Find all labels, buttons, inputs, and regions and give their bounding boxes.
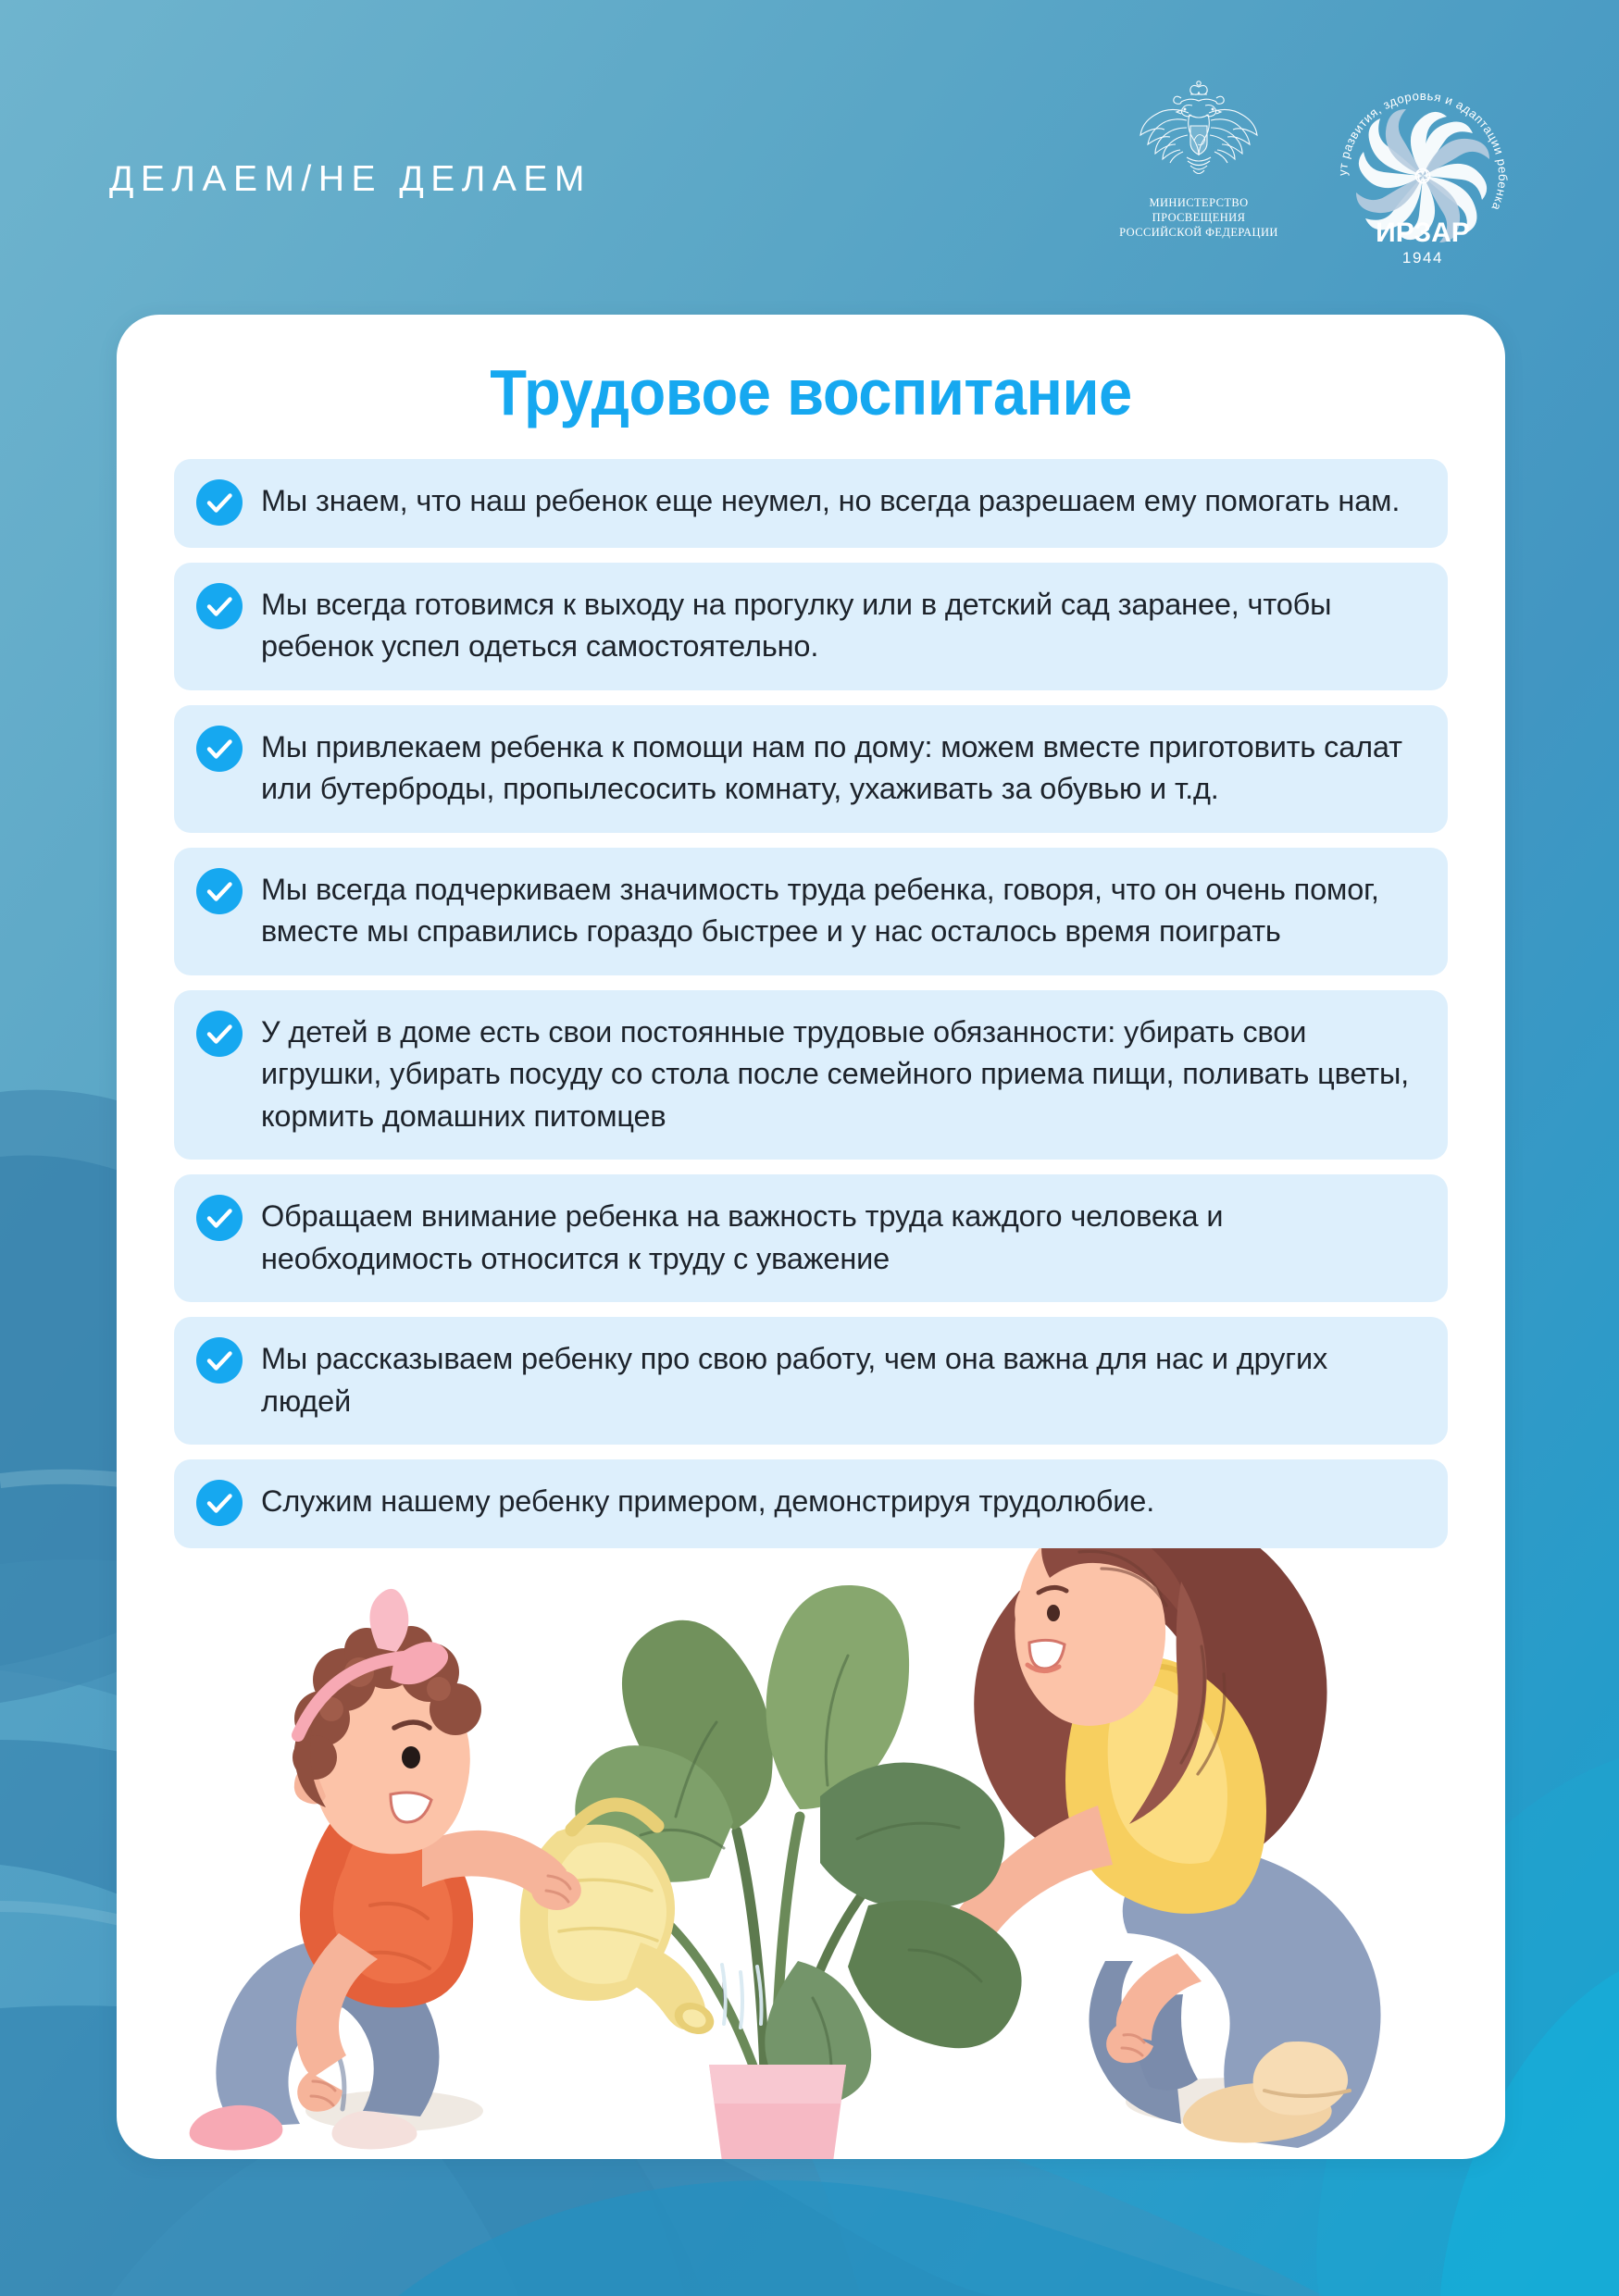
watering-can [520, 1805, 719, 2040]
list-item-text: Мы всегда готовимся к выходу на прогулку… [261, 581, 1420, 668]
poster-header: ДЕЛАЕМ/НЕ ДЕЛАЕМ [0, 0, 1619, 315]
ministry-logo: МИНИСТЕРСТВО ПРОСВЕЩЕНИЯ РОССИЙСКОЙ ФЕДЕ… [1106, 80, 1291, 240]
list-item: Мы всегда готовимся к выходу на прогулку… [174, 563, 1448, 690]
logo-group: МИНИСТЕРСТВО ПРОСВЕЩЕНИЯ РОССИЙСКОЙ ФЕДЕ… [1106, 80, 1519, 272]
check-circle-icon [196, 479, 243, 526]
irzar-logo: Институт развития, здоровья и адаптации … [1326, 80, 1519, 272]
content-card: Трудовое воспитание Мы знаем, что наш ре… [117, 315, 1505, 2159]
mother-and-child-watering-plant-illustration [117, 1443, 1505, 2159]
list-item-text: Мы рассказываем ребенку про свою работу,… [261, 1335, 1420, 1422]
ministry-caption-line1: МИНИСТЕРСТВО ПРОСВЕЩЕНИЯ [1106, 195, 1291, 225]
list-item-text: Обращаем внимание ребенка на важность тр… [261, 1193, 1420, 1280]
check-circle-icon [196, 1337, 243, 1384]
checklist: Мы знаем, что наш ребенок еще неумел, но… [174, 459, 1448, 1549]
check-circle-icon [196, 726, 243, 772]
list-item: Служим нашему ребенку примером, демонстр… [174, 1459, 1448, 1548]
check-circle-icon [196, 868, 243, 914]
list-item-text: Мы знаем, что наш ребенок еще неумел, но… [261, 478, 1400, 523]
irzar-year: 1944 [1402, 249, 1443, 267]
page-title: Трудовое воспитание [166, 359, 1457, 428]
double-headed-eagle-icon [1129, 80, 1268, 191]
irzar-acronym: ИРЗАР [1376, 217, 1470, 248]
list-item: Мы всегда подчеркиваем значимость труда … [174, 848, 1448, 975]
list-item: Мы привлекаем ребенка к помощи нам по до… [174, 705, 1448, 833]
list-item: Мы знаем, что наш ребенок еще неумел, но… [174, 459, 1448, 548]
list-item: У детей в доме есть свои постоянные труд… [174, 990, 1448, 1160]
list-item-text: Мы всегда подчеркиваем значимость труда … [261, 866, 1420, 953]
check-circle-icon [196, 1011, 243, 1057]
list-item-text: Мы привлекаем ребенка к помощи нам по до… [261, 724, 1420, 811]
list-item-text: У детей в доме есть свои постоянные труд… [261, 1009, 1420, 1138]
check-circle-icon [196, 1195, 243, 1241]
potted-plant [575, 1585, 1021, 2159]
mother-figure [921, 1515, 1380, 2148]
check-circle-icon [196, 583, 243, 629]
list-item-text: Служим нашему ребенку примером, демонстр… [261, 1478, 1154, 1523]
ministry-logo-caption: МИНИСТЕРСТВО ПРОСВЕЩЕНИЯ РОССИЙСКОЙ ФЕДЕ… [1106, 195, 1291, 240]
check-circle-icon [196, 1480, 243, 1526]
page-kicker: ДЕЛАЕМ/НЕ ДЕЛАЕМ [109, 159, 592, 200]
ministry-caption-line2: РОССИЙСКОЙ ФЕДЕРАЦИИ [1106, 225, 1291, 240]
poster: ДЕЛАЕМ/НЕ ДЕЛАЕМ [0, 0, 1619, 2296]
child-figure [190, 1589, 581, 2151]
list-item: Обращаем внимание ребенка на важность тр… [174, 1174, 1448, 1302]
list-item: Мы рассказываем ребенку про свою работу,… [174, 1317, 1448, 1445]
